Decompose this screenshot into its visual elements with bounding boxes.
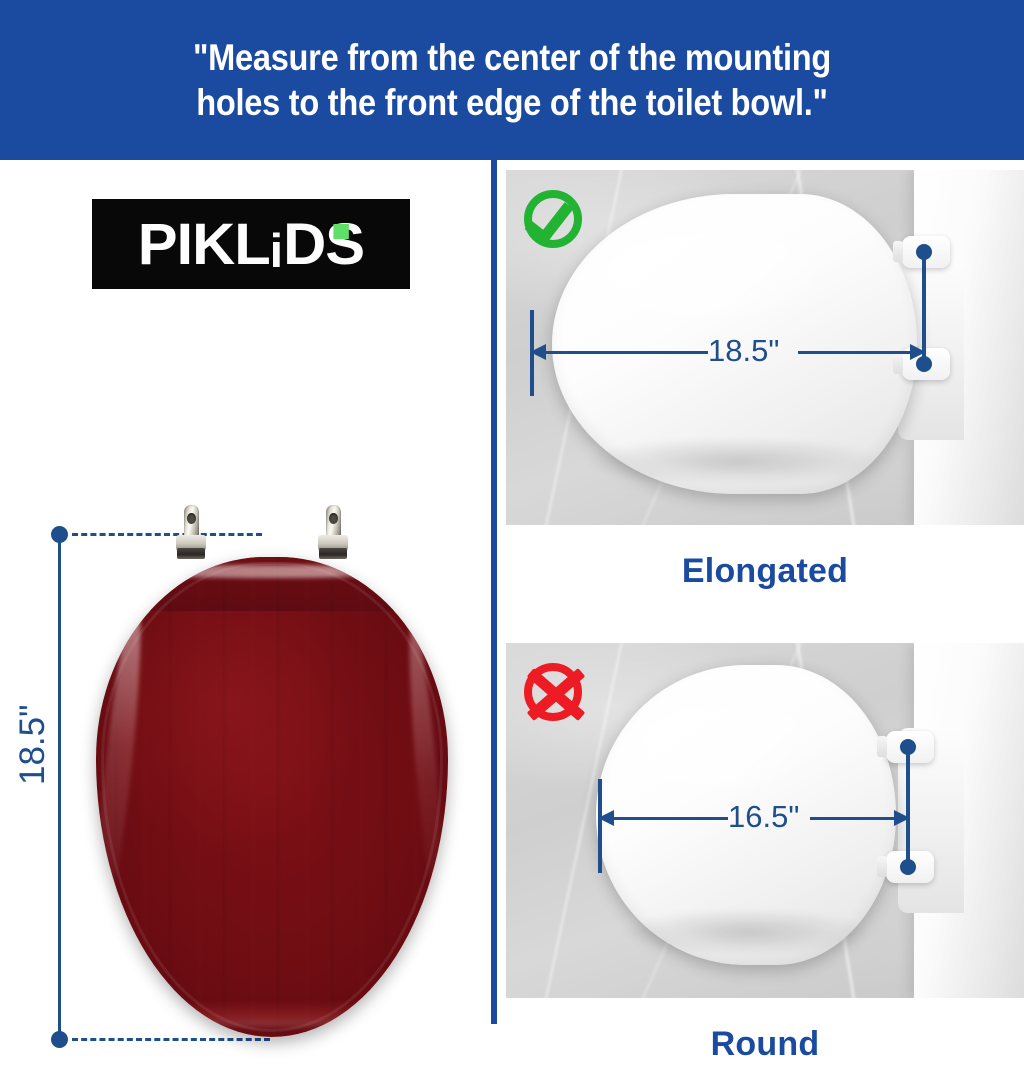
- mounting-hole-dot-bottom-round-icon: [900, 859, 916, 875]
- brand-logo-text: PIKLiDS: [138, 211, 364, 278]
- header-quote-line-1: "Measure from the center of the mounting: [178, 35, 847, 80]
- round-arrow-left-icon: [598, 810, 614, 826]
- left-dimension-label: 18.5": [13, 705, 53, 785]
- mounting-hole-dot-top-icon: [916, 244, 932, 260]
- round-dimension-tick: [598, 779, 602, 873]
- header-quote: "Measure from the center of the mounting…: [178, 35, 847, 125]
- red-x-circle-icon: [520, 655, 592, 727]
- logo-text-part2: DS: [283, 212, 364, 277]
- round-measurement-label: 16.5": [722, 799, 805, 835]
- seat-lid-body: [96, 557, 448, 1037]
- elongated-caption: Elongated: [506, 528, 1024, 614]
- elongated-caption-text: Elongated: [682, 552, 848, 591]
- brand-logo: PIKLiDS: [92, 199, 410, 289]
- round-arrow-right-icon: [894, 810, 910, 826]
- wooden-toilet-seat-photo: [80, 505, 460, 1045]
- logo-accent-dot-icon: [334, 224, 349, 239]
- logo-text-i: i: [270, 224, 283, 277]
- left-product-panel: PIKLiDS 18.5": [0, 160, 491, 1024]
- round-caption: Round: [506, 1001, 1024, 1087]
- logo-text-part1: PIKL: [138, 212, 270, 277]
- right-comparison-column: 18.5" Elongated: [497, 160, 1024, 1024]
- round-dimension-line-left: [606, 817, 728, 820]
- elongated-seat-photo: 18.5": [506, 170, 1024, 525]
- infographic-page: "Measure from the center of the mounting…: [0, 0, 1024, 1024]
- elongated-measurement-label: 18.5": [702, 333, 785, 369]
- elongated-arrow-right-icon: [910, 344, 926, 360]
- round-seat-photo: 16.5": [506, 643, 1024, 998]
- header-quote-line-2: holes to the front edge of the toilet bo…: [178, 80, 847, 125]
- green-check-circle-icon: [520, 182, 592, 254]
- elongated-arrow-left-icon: [530, 344, 546, 360]
- dimension-dot-bottom-icon: [51, 1031, 68, 1048]
- elongated-dimension-line-left: [538, 351, 708, 354]
- mounting-hole-dot-top-round-icon: [900, 739, 916, 755]
- dimension-vertical-line: [58, 532, 61, 1040]
- round-caption-text: Round: [711, 1025, 820, 1064]
- elongated-dimension-line-right: [798, 351, 924, 354]
- round-dimension-line-right: [810, 817, 904, 820]
- mounting-hole-center-line-round: [906, 747, 910, 867]
- header-banner: "Measure from the center of the mounting…: [0, 0, 1024, 160]
